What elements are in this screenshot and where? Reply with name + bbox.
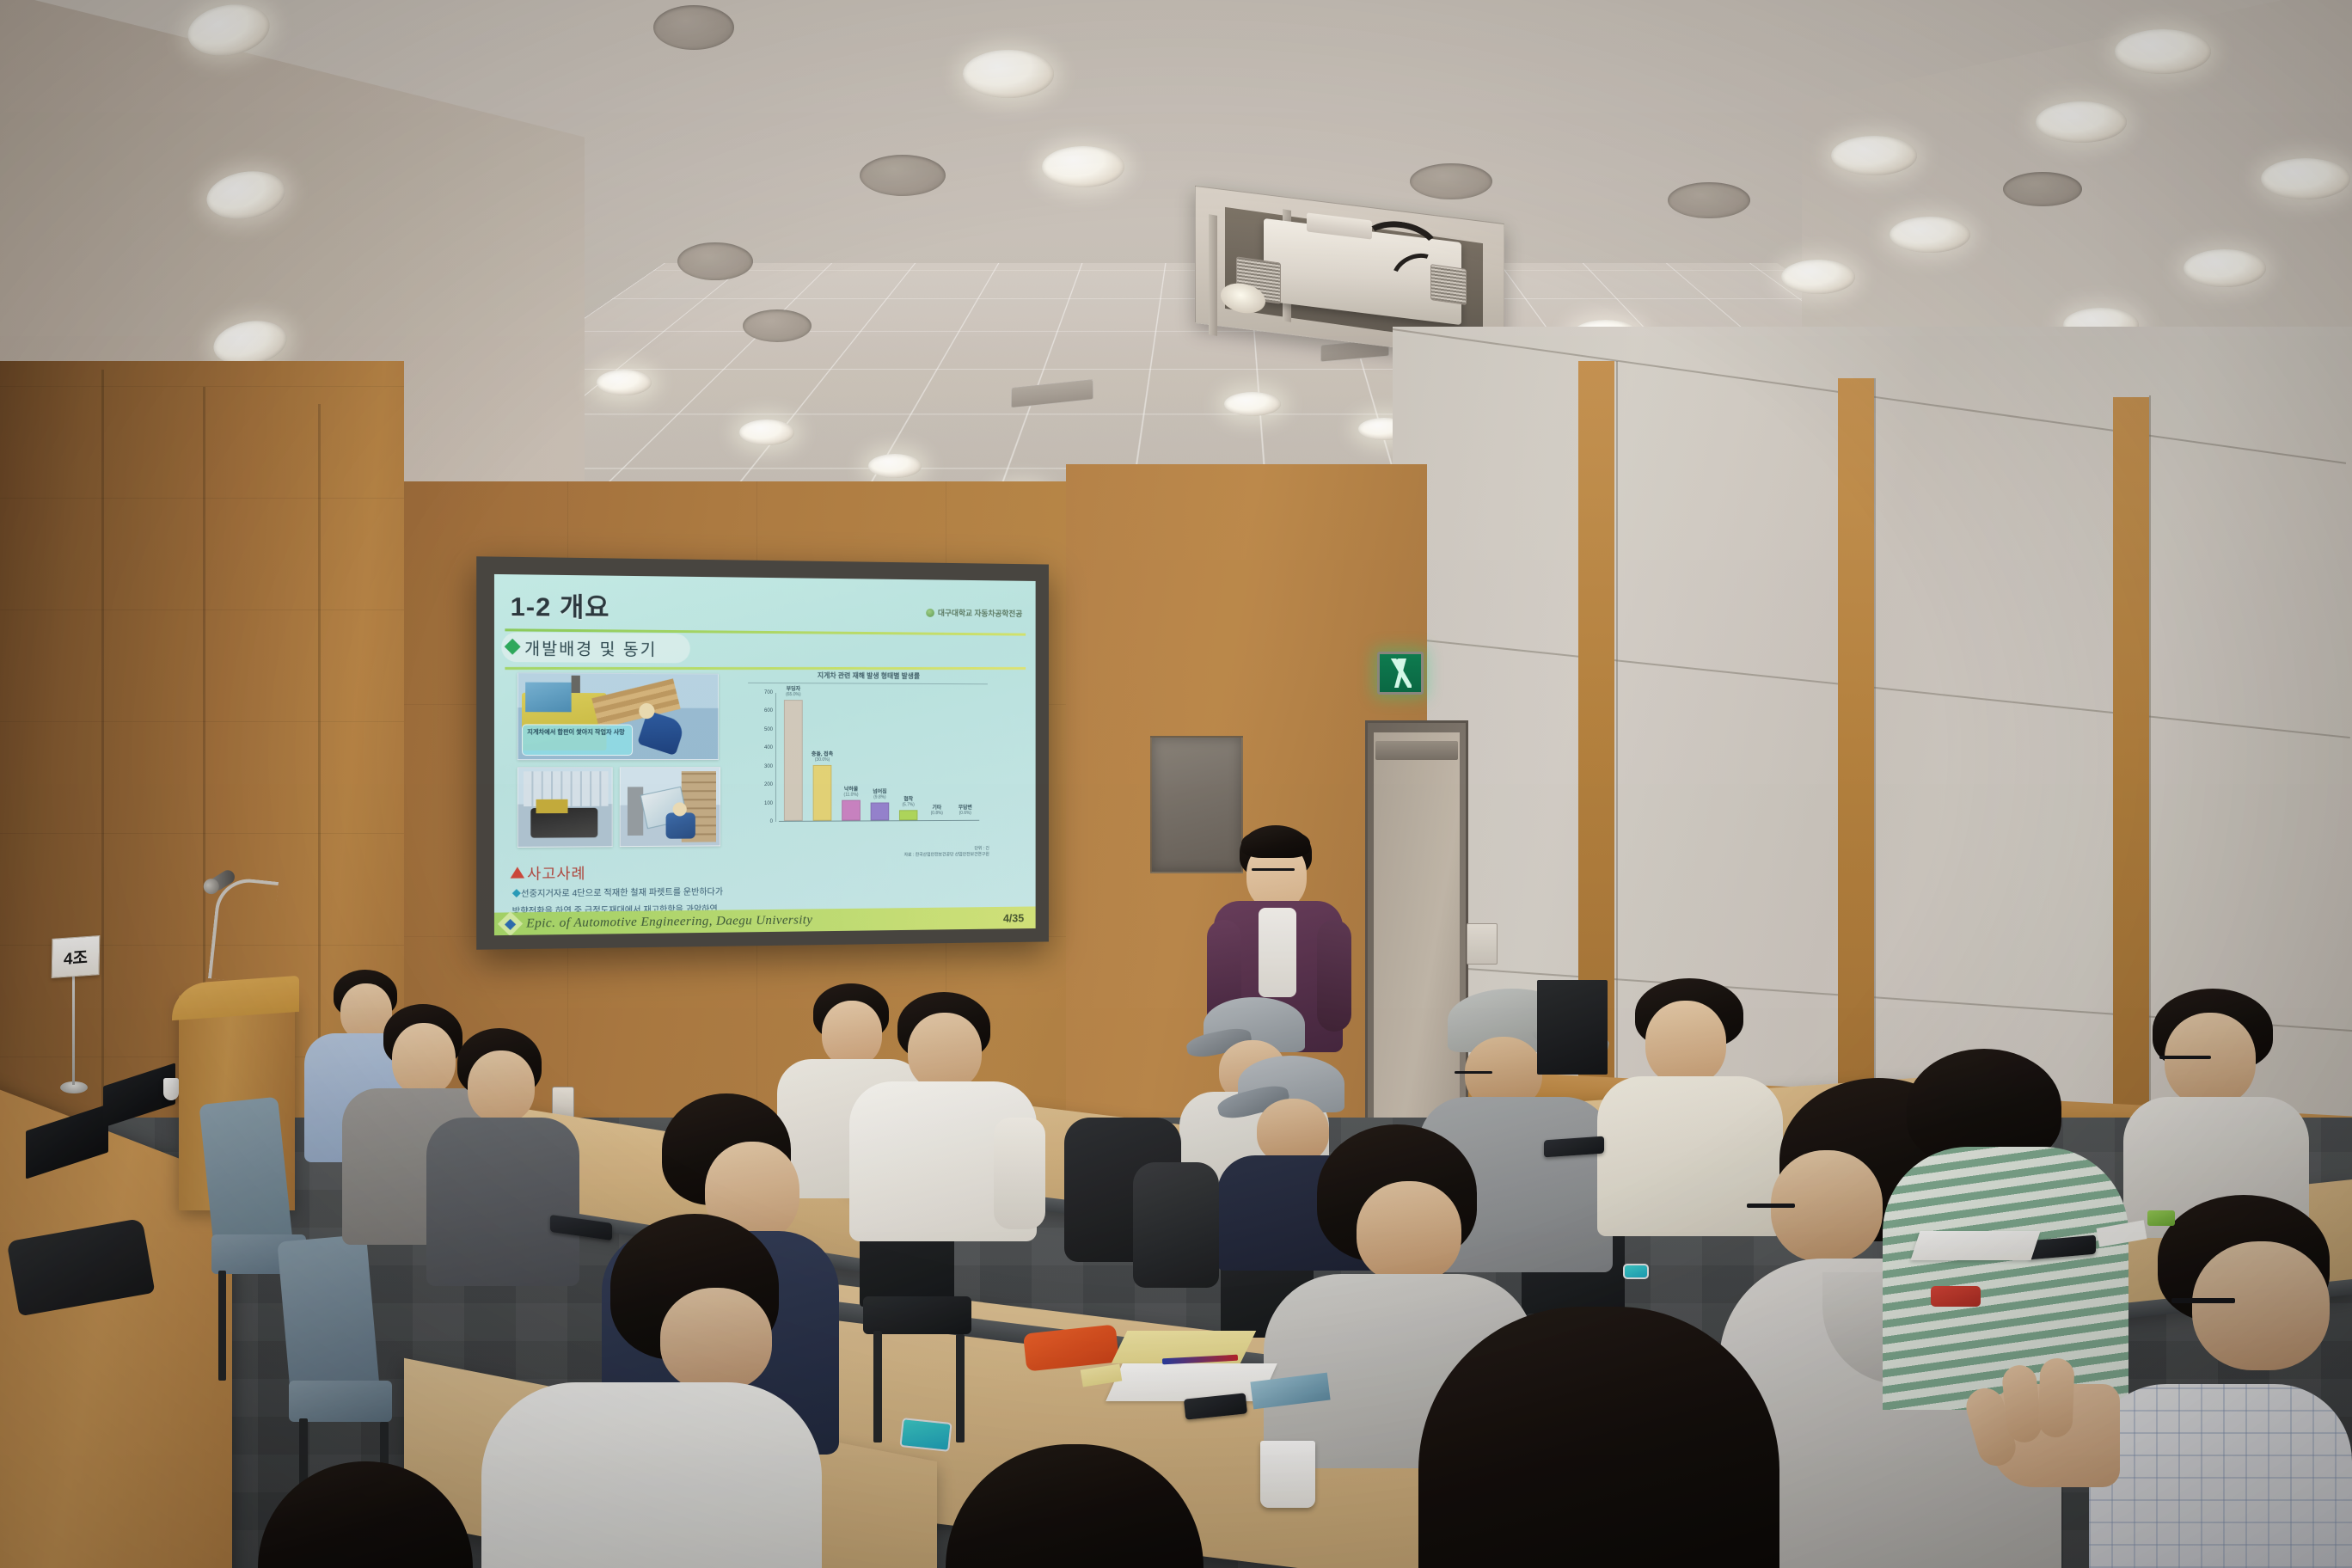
slide-subtitle: 개발배경 및 동기 [524, 636, 657, 661]
downlight [2115, 29, 2211, 74]
chart-y-tick: 500 [764, 727, 775, 732]
slide-footer-text: Epic. of Automotive Engineering, Daegu U… [526, 910, 1003, 931]
glasses-icon [1252, 868, 1295, 871]
chart-y-tick: 400 [764, 745, 775, 750]
chart-bar-label: 충돌, 접촉(30.0%) [812, 752, 833, 763]
chart-bar-group: 충돌, 접촉(30.0%) [812, 692, 833, 821]
chart-y-tick: 0 [770, 819, 775, 824]
downlight [1042, 146, 1124, 187]
accident-case-heading: 사고사례 [511, 861, 586, 884]
chart-bar [813, 765, 832, 821]
wall-outlet-box[interactable] [1467, 923, 1498, 965]
head [2165, 1013, 2256, 1106]
downlight-off [1410, 163, 1492, 199]
slide-title: 1-2 개요 [511, 585, 610, 624]
monitor [1537, 980, 1608, 1075]
glasses-icon [1455, 1071, 1492, 1074]
downlight-off [677, 242, 753, 280]
bullet-icon: ◆ [512, 890, 521, 899]
head [1645, 1001, 1726, 1085]
glasses-icon [2159, 1056, 2211, 1059]
chart-y-tick: 600 [764, 708, 775, 714]
chart-y-axis: 7006005004003002001000 [775, 693, 776, 822]
smartphone-screen-on[interactable] [1623, 1264, 1649, 1279]
footer-badge-icon [498, 911, 523, 935]
slide-photo-warehouse [518, 767, 613, 848]
chart-bar-label: 낙하물(11.0%) [844, 787, 859, 799]
sign-stand-pole [72, 973, 75, 1085]
downlight [963, 50, 1054, 98]
slide-page-number: 4/35 [1003, 911, 1036, 924]
chart-title: 지게차 관련 재해 발생 형태별 발생률 [741, 671, 995, 682]
undershirt [1259, 908, 1296, 997]
head [908, 1013, 982, 1090]
smartphone-screen-on[interactable] [899, 1418, 952, 1452]
door-closer [1375, 741, 1458, 760]
downlight [2184, 249, 2266, 287]
audience-member [1418, 1307, 1779, 1568]
projection-screen: 1-2 개요 대구대학교 자동차공학전공 개발배경 및 동기 [476, 556, 1049, 950]
hair [1418, 1307, 1779, 1568]
chart-bar-label: 넘어짐(9.8%) [873, 790, 886, 801]
panel-seam [101, 370, 104, 1126]
hair [258, 1461, 473, 1568]
logo-text: 대구대학교 자동차공학전공 [938, 607, 1022, 619]
arm [994, 1118, 1045, 1229]
chart-y-tick: 100 [764, 801, 775, 806]
chart-bar [784, 700, 803, 821]
audience-member [258, 1461, 473, 1568]
chart-bar [842, 800, 861, 821]
small-item-green [2147, 1210, 2175, 1226]
slide-sub-rule [505, 667, 1026, 670]
logo-mark-icon [926, 608, 934, 616]
hair-fringe [1241, 829, 1310, 858]
running-man-pictogram [1389, 658, 1412, 688]
downlight-off [1668, 182, 1750, 218]
chart-top-rule [748, 683, 988, 684]
group-number-sign: 4조 [52, 935, 101, 978]
chart-bar-label: 무답변(0.6%) [959, 805, 972, 817]
chart-bar-label: 부딩자(65.0%) [786, 687, 800, 698]
chart-plot-area: 부딩자(65.0%)충돌, 접촉(30.0%)낙하물(11.0%)넘어짐(9.8… [779, 693, 979, 822]
chart-bars: 부딩자(65.0%)충돌, 접촉(30.0%)낙하물(11.0%)넘어짐(9.8… [779, 692, 979, 821]
audience-member [849, 992, 1038, 1241]
downlight-off [653, 5, 734, 50]
downlight [739, 420, 794, 445]
chart-source-note: 단위 : 건 자료 : 한국산업안전보건공단 산업안전보건연구원 [741, 846, 989, 860]
chart-bar-group: 부딩자(65.0%) [783, 692, 804, 821]
lecture-hall-photo: 1-2 개요 대구대학교 자동차공학전공 개발배경 및 동기 [0, 0, 2352, 1568]
audience-member [481, 1214, 825, 1568]
downlight [1890, 217, 1970, 253]
downlight [868, 454, 922, 478]
paper-cup [163, 1078, 179, 1100]
hair [946, 1444, 1204, 1568]
chart-bar-group: 낙하물(11.0%) [841, 692, 861, 820]
chart-bar-label: 기타(0.8%) [931, 806, 943, 818]
exit-sign-icon [1377, 652, 1424, 695]
audience-member [946, 1444, 1204, 1568]
head [660, 1288, 772, 1391]
downlight [597, 370, 652, 395]
glasses-icon [2171, 1298, 2235, 1303]
downlight [1781, 260, 1855, 294]
downlight [1224, 392, 1281, 416]
chart-y-tick: 300 [764, 764, 775, 769]
presentation-slide: 1-2 개요 대구대학교 자동차공학전공 개발배경 및 동기 [494, 574, 1036, 935]
slide-photo-forklift-accident: 지게차에서 합판이 쌏아지 작업자 사망 [518, 672, 719, 760]
chart-y-tick: 200 [764, 782, 775, 787]
chart-bar-group: 기타(0.8%) [927, 693, 946, 820]
glasses-icon [1747, 1204, 1795, 1208]
chart-bar-group: 넘어짐(9.8%) [870, 693, 891, 821]
panel-seam [1874, 378, 1876, 1152]
chart-bar-group: 무답변(0.6%) [955, 693, 975, 820]
chart-bar [899, 810, 917, 820]
downlight-off [860, 155, 946, 196]
wall-wood-trim [1838, 378, 1874, 1152]
downlight-off [743, 309, 812, 342]
raised-hand [1957, 1350, 2128, 1504]
panel-seam [318, 404, 321, 1057]
head [1357, 1181, 1461, 1283]
head [2192, 1241, 2330, 1370]
slide-bar-chart: 지게차 관련 재해 발생 형태별 발생률 7006005004003002001… [741, 671, 995, 860]
paper-cup[interactable] [1260, 1441, 1315, 1508]
red-item [1931, 1286, 1981, 1307]
downlight [2036, 101, 2127, 143]
downlight [1831, 136, 1917, 175]
paper-sheet [1910, 1231, 2040, 1260]
slide-photo-handcart [620, 767, 720, 847]
torso-shirt [481, 1382, 822, 1568]
university-logo: 대구대학교 자동차공학전공 [926, 607, 1022, 619]
slide-photo-caption: 지게차에서 합판이 쌏아지 작업자 사망 [522, 724, 633, 756]
warning-triangle-icon [511, 867, 525, 878]
downlight [2261, 158, 2350, 199]
screen-surface: 1-2 개요 대구대학교 자동차공학전공 개발배경 및 동기 [494, 574, 1036, 935]
chart-bar [871, 802, 890, 820]
backpack [1133, 1162, 1219, 1288]
head [468, 1050, 535, 1123]
downlight-off [2003, 172, 2082, 206]
chart-bar-group: 협착(5.7%) [898, 693, 918, 821]
chart-bar-label: 협착(5.7%) [902, 797, 914, 808]
projector-mount-rail [1209, 214, 1217, 336]
chart-y-tick: 700 [764, 690, 775, 695]
slide-photo-group: 지게차에서 합판이 쌏아지 작업자 사망 [509, 672, 719, 673]
